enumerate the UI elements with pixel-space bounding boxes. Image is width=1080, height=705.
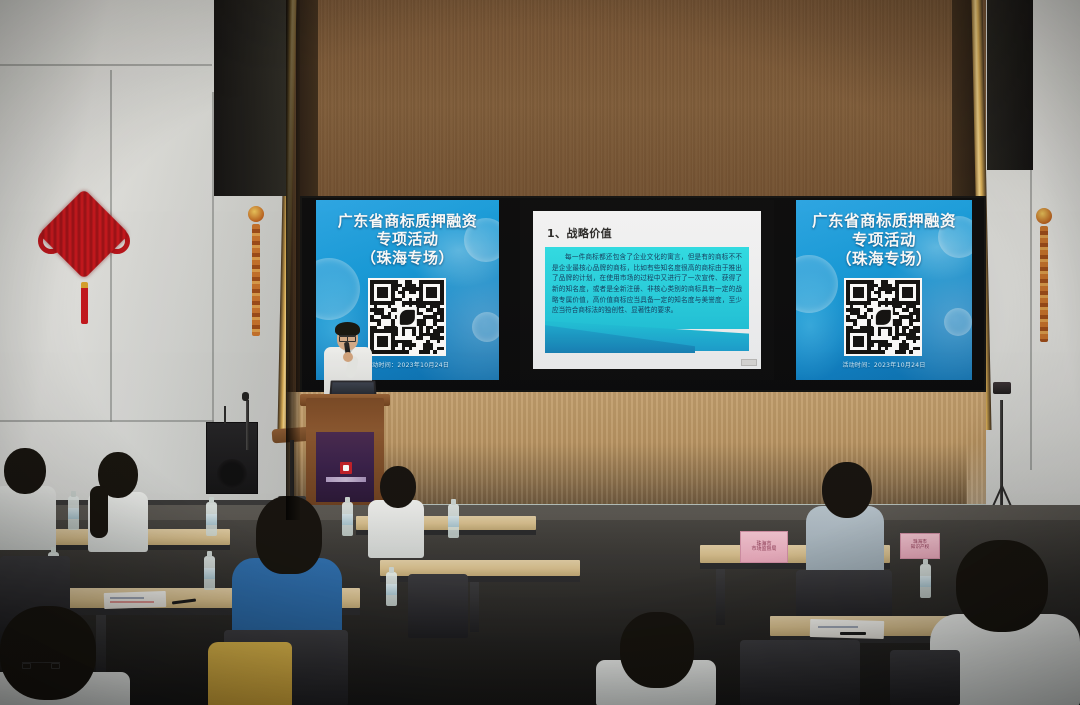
paper-text-line: [110, 601, 154, 603]
bottle-label: [204, 568, 215, 579]
bubble-decor: [472, 312, 499, 342]
audience-chair: [408, 574, 468, 638]
dark-band-right: [987, 0, 1033, 170]
bottle-label: [68, 508, 79, 519]
slide-title: 1、战略价值: [547, 225, 612, 241]
poster-title-line-3: （珠海专场）: [316, 249, 499, 267]
water-bottle: [448, 504, 459, 538]
led-panel-center: 1、战略价值 每一件商标都还包含了企业文化的寓言，但是有的商标不不是企业最核心品…: [520, 200, 774, 380]
ornament-tassel: [252, 224, 260, 336]
presentation-slide: 1、战略价值 每一件商标都还包含了企业文化的寓言，但是有的商标不不是企业最核心品…: [533, 211, 761, 369]
wall-seam: [0, 420, 214, 422]
conference-hall-photo: 广东省商标质押融资 专项活动 （珠海专场） 活动时间：2023年10月24日 1…: [0, 0, 1080, 705]
audience-person-body: [368, 500, 424, 558]
paper-text-line: [110, 597, 144, 599]
poster-title-line-2: 专项活动: [316, 230, 499, 248]
ornament-medallion: [1036, 208, 1052, 224]
water-bottle: [206, 502, 217, 536]
slide-body-text: 每一件商标都还包含了企业文化的寓言，但是有的商标不不是企业最核心品牌的商标，比如…: [545, 247, 749, 329]
paper-text-line: [818, 626, 858, 628]
bottle-label: [206, 514, 217, 525]
ornament-tassel: [1040, 226, 1048, 342]
poster-title-line-1: 广东省商标质押融资: [796, 212, 972, 231]
audience-chair: [890, 650, 960, 705]
qr-center-logo: [873, 307, 893, 327]
name-placard: 珠海市 知识产权: [900, 533, 940, 559]
glasses-icon: [339, 335, 356, 339]
document-paper: [104, 591, 167, 609]
placard-text: 珠海市 知识产权: [911, 541, 929, 551]
podium-logo-text: [326, 477, 366, 482]
qr-center-logo: [397, 307, 417, 327]
audience-person-head: [956, 540, 1048, 632]
ornament-medallion: [248, 206, 264, 222]
poster-title-right: 广东省商标质押融资 专项活动 （珠海专场）: [796, 212, 972, 269]
poster-date-right: 活动时间：2023年10月24日: [796, 360, 972, 369]
knot-body: [39, 189, 130, 280]
chinese-knot-ornament: [38, 196, 134, 326]
audience-person-head: [380, 466, 416, 508]
poster-title-left: 广东省商标质押融资 专项活动 （珠海专场）: [316, 212, 499, 267]
audience-person-head: [822, 462, 872, 518]
knot-tassel: [81, 282, 88, 324]
bottle-label: [386, 584, 397, 595]
audience-person-head: [4, 448, 46, 494]
name-placard: 珠海市 市场监督局: [740, 531, 788, 563]
mic-stand-pole: [224, 406, 226, 424]
bottle-label: [448, 516, 459, 527]
poster-title-line-3: （珠海专场）: [796, 250, 972, 269]
qr-code-left: [368, 278, 446, 356]
mic-stand-pole: [246, 400, 249, 450]
led-panel-right: 广东省商标质押融资 专项活动 （珠海专场） 活动时间：2023年10月24日: [796, 200, 972, 380]
dark-band-left: [214, 0, 286, 196]
microphone-head: [242, 392, 249, 401]
water-bottle: [204, 556, 215, 590]
bubble-decor: [316, 258, 360, 320]
audience-person-head: [0, 606, 96, 700]
qr-code-right: [844, 278, 922, 356]
poster-title-line-2: 专项活动: [796, 231, 972, 250]
presenter-hair: [335, 322, 360, 336]
pen: [840, 632, 866, 635]
document-paper: [810, 619, 884, 639]
audience-person-head: [620, 612, 694, 688]
water-bottle: [386, 572, 397, 606]
slide-corner-badge: [741, 359, 757, 366]
yellow-bag: [208, 642, 292, 705]
poster-title-line-1: 广东省商标质押融资: [316, 212, 499, 230]
audience-chair: [740, 640, 860, 705]
tripod-head: [993, 382, 1011, 394]
bottle-label: [920, 576, 931, 587]
audio-speaker-cabinet: [206, 422, 258, 494]
water-bottle: [68, 496, 79, 530]
wall-seam: [0, 64, 212, 66]
organization-logo-icon: [340, 462, 352, 474]
table-leg: [96, 615, 106, 675]
table-leg: [470, 582, 479, 632]
placard-text: 珠海市 市场监督局: [751, 542, 776, 553]
glasses-icon: [22, 662, 60, 666]
backdrop-corner-shadow: [286, 0, 300, 520]
water-bottle: [920, 564, 931, 598]
water-bottle: [342, 502, 353, 536]
audience-ponytail: [90, 486, 108, 538]
bubble-decor: [944, 308, 972, 336]
audience-person-body: [0, 486, 56, 550]
presenter-hand: [343, 352, 353, 362]
table-leg: [716, 569, 725, 625]
bottle-label: [342, 514, 353, 525]
